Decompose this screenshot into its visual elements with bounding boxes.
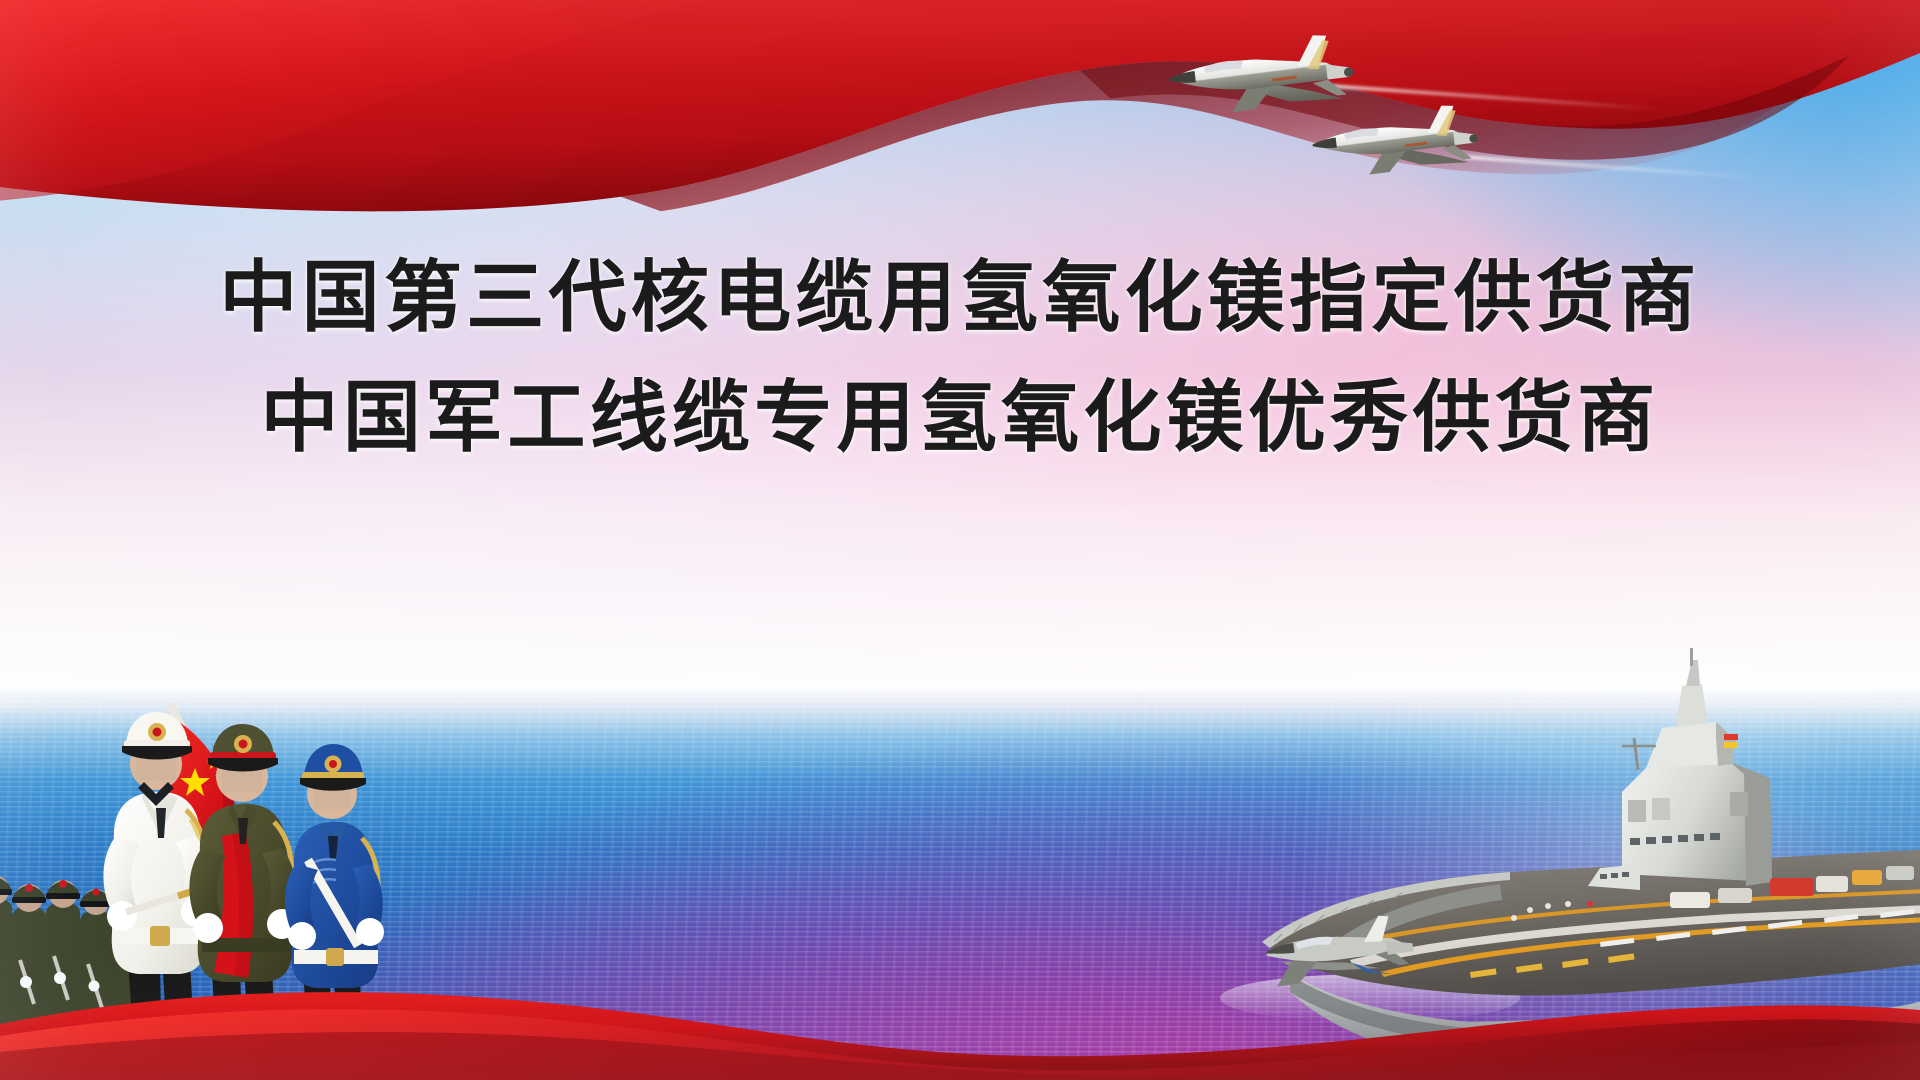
red-silk-ribbon-top [0,0,1920,270]
red-silk-ribbon-bottom [0,944,1920,1080]
banner-canvas: 中国第三代核电缆用氢氧化镁指定供货商 中国军工线缆专用氢氧化镁优秀供货商 [0,0,1920,1080]
